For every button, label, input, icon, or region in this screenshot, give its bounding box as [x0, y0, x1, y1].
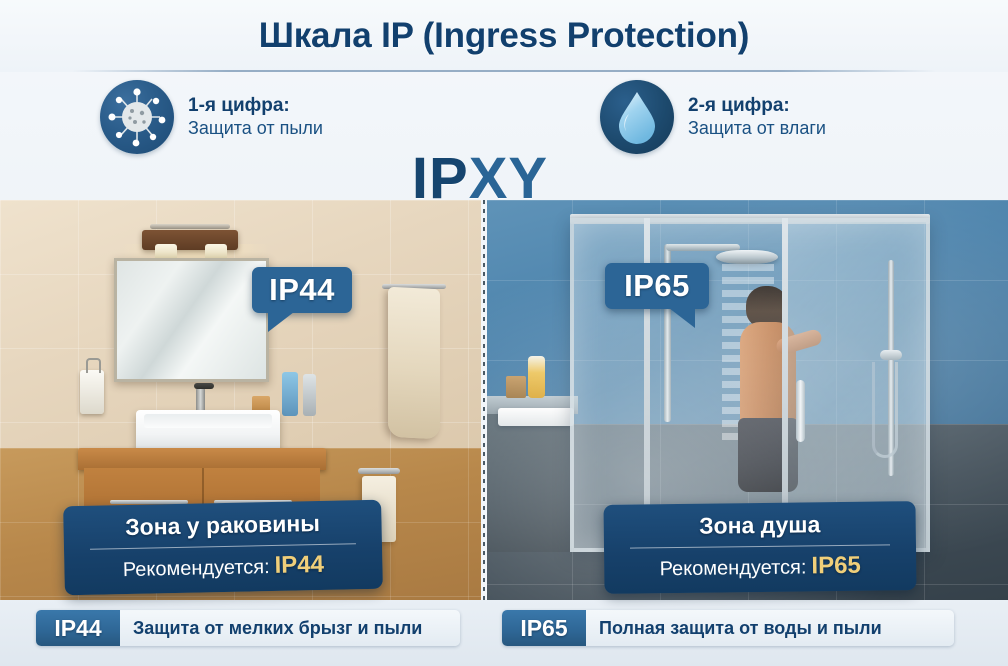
legend-second-digit-subtext: Защита от влаги [688, 118, 826, 139]
legend-second-digit-heading: 2-я цифра: [688, 95, 826, 117]
zone-recommend-label-sink: Рекомендуется: [123, 556, 270, 581]
callout-bubble-ip44-label: IP44 [269, 272, 335, 308]
footer-text-ip44: Защита от мелких брызг и пыли [120, 618, 422, 639]
callout-bubble-ip44: IP44 [252, 267, 352, 313]
infographic-root: Шкала IP (Ingress Protection) [0, 0, 1008, 666]
hanging-towel [388, 287, 440, 440]
shower-gel-bottle [528, 356, 545, 398]
glass-door [784, 222, 926, 548]
dust-particle-icon [100, 80, 174, 154]
sink-basin [144, 414, 272, 428]
legend-band: 1-я цифра: Защита от пыли [0, 72, 1008, 200]
zone-recommend-value-sink: IP44 [274, 551, 324, 579]
folded-towel [498, 408, 574, 426]
water-drop-glyph [600, 80, 674, 154]
water-drop-icon [600, 80, 674, 154]
legend-first-digit-text: 1-я цифра: Защита от пыли [188, 95, 323, 139]
title-area: Шкала IP (Ingress Protection) [0, 0, 1008, 72]
footer-bar: IP44 Защита от мелких брызг и пыли IP65 … [0, 600, 1008, 666]
door-handle [796, 380, 805, 442]
vanity-light-bar [150, 224, 230, 229]
legend-second-digit-text: 2-я цифра: Защита от влаги [688, 95, 826, 139]
legend-first-digit-heading: 1-я цифра: [188, 95, 323, 117]
footer-badge-ip65: IP65 [502, 610, 586, 646]
zone-title-shower: Зона душа [626, 510, 894, 540]
shampoo-bottle [282, 372, 298, 416]
footer-item-ip44: IP44 Защита от мелких брызг и пыли [36, 610, 460, 646]
zone-title-sink: Зона у раковины [85, 509, 360, 542]
shower-hose [872, 362, 898, 458]
hand-shower-head [880, 350, 902, 360]
soap-dispenser-wall [80, 370, 104, 414]
shower-head [716, 250, 778, 264]
footer-item-ip65: IP65 Полная защита от воды и пыли [502, 610, 954, 646]
callout-bubble-ip65: IP65 [605, 263, 709, 309]
page-title: Шкала IP (Ingress Protection) [259, 16, 750, 56]
zone-banner-shower: Зона душа Рекомендуется:IP65 [603, 501, 916, 594]
zone-divider-sink [90, 543, 356, 550]
zone-recommend-sink: Рекомендуется:IP44 [86, 550, 361, 584]
zone-recommend-shower: Рекомендуется:IP65 [626, 551, 894, 582]
vanity-countertop [78, 448, 326, 470]
footer-badge-ip44: IP44 [36, 610, 120, 646]
zone-recommend-value-shower: IP65 [811, 552, 861, 580]
lotion-bottle [303, 374, 316, 416]
panel-divider [481, 200, 487, 600]
footer-text-ip65: Полная защита от воды и пыли [586, 618, 882, 639]
bath-ledge-body [484, 414, 570, 552]
towel-ring [358, 468, 400, 474]
mirror [114, 258, 269, 382]
zone-recommend-label-shower: Рекомендуется: [660, 556, 807, 580]
soap-tray [506, 376, 526, 398]
zone-banner-sink: Зона у раковины Рекомендуется:IP44 [63, 500, 383, 596]
zone-divider-shower [630, 544, 890, 548]
callout-bubble-ip65-label: IP65 [624, 268, 690, 304]
dust-particle-glyph [100, 80, 174, 154]
legend-first-digit-subtext: Защита от пыли [188, 118, 323, 139]
legend-first-digit: 1-я цифра: Защита от пыли [100, 80, 323, 154]
legend-second-digit: 2-я цифра: Защита от влаги [600, 80, 826, 154]
